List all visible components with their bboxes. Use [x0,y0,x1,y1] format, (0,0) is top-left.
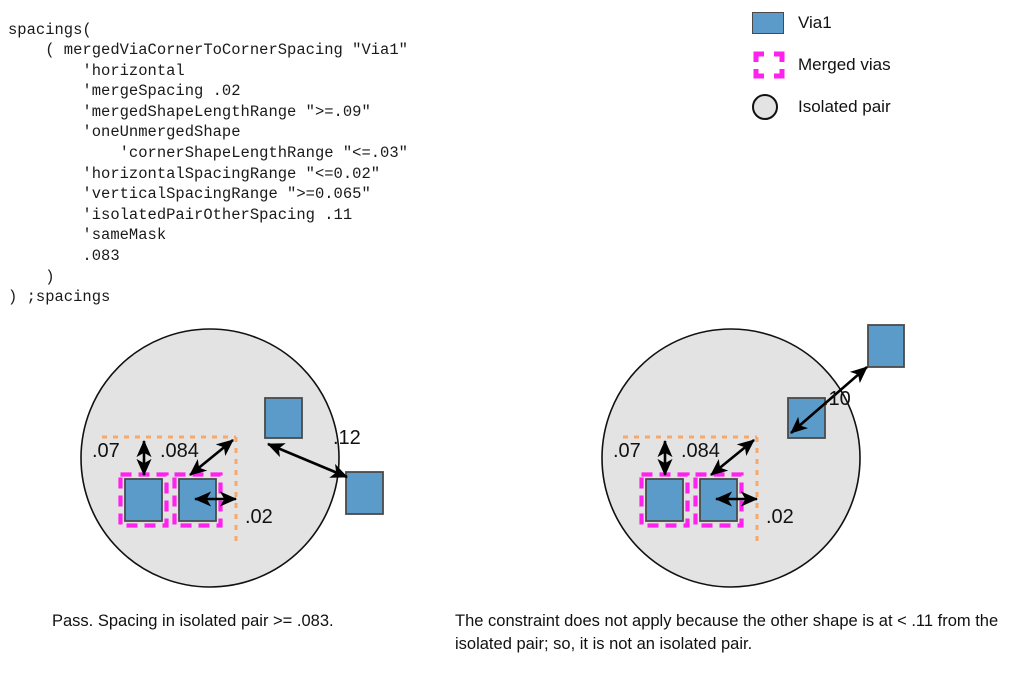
legend: Via1 Merged vias Isolated pair [752,2,1007,128]
merge-spacing-label: .02 [766,506,794,528]
via-shape-other-outside [868,325,904,367]
constraint-code-block: spacings( ( mergedViaCornerToCornerSpaci… [8,20,628,308]
via-shape [125,479,162,521]
other-spacing-label: .10 [823,388,851,410]
legend-label-merged-vias: Merged vias [798,55,891,75]
via-shape-other-inside [265,398,302,438]
legend-item-isolated-pair: Isolated pair [752,86,1007,128]
via-shape [646,479,683,521]
vertical-spacing-label: .07 [92,440,120,462]
vertical-spacing-label: .07 [613,440,641,462]
other-spacing-label: .12 [333,427,361,449]
via-swatch-icon [752,12,798,34]
caption-not-applicable-case: The constraint does not apply because th… [455,610,1000,656]
corner-spacing-label: .084 [160,440,199,462]
diagram-pass-case: .07 .084 .02 .12 [40,305,440,605]
diagram-not-applicable-case: .07 .084 .02 .10 [561,305,961,605]
merge-spacing-label: .02 [245,506,273,528]
via-shape-other-outside [346,472,383,514]
corner-spacing-label: .084 [681,440,720,462]
merged-vias-dashed-icon [752,51,798,79]
caption-pass-case: Pass. Spacing in isolated pair >= .083. [52,610,472,633]
legend-item-via1: Via1 [752,2,1007,44]
legend-item-merged-vias: Merged vias [752,44,1007,86]
legend-label-isolated-pair: Isolated pair [798,97,891,117]
isolated-pair-circle-icon [752,94,798,120]
legend-label-via1: Via1 [798,13,832,33]
